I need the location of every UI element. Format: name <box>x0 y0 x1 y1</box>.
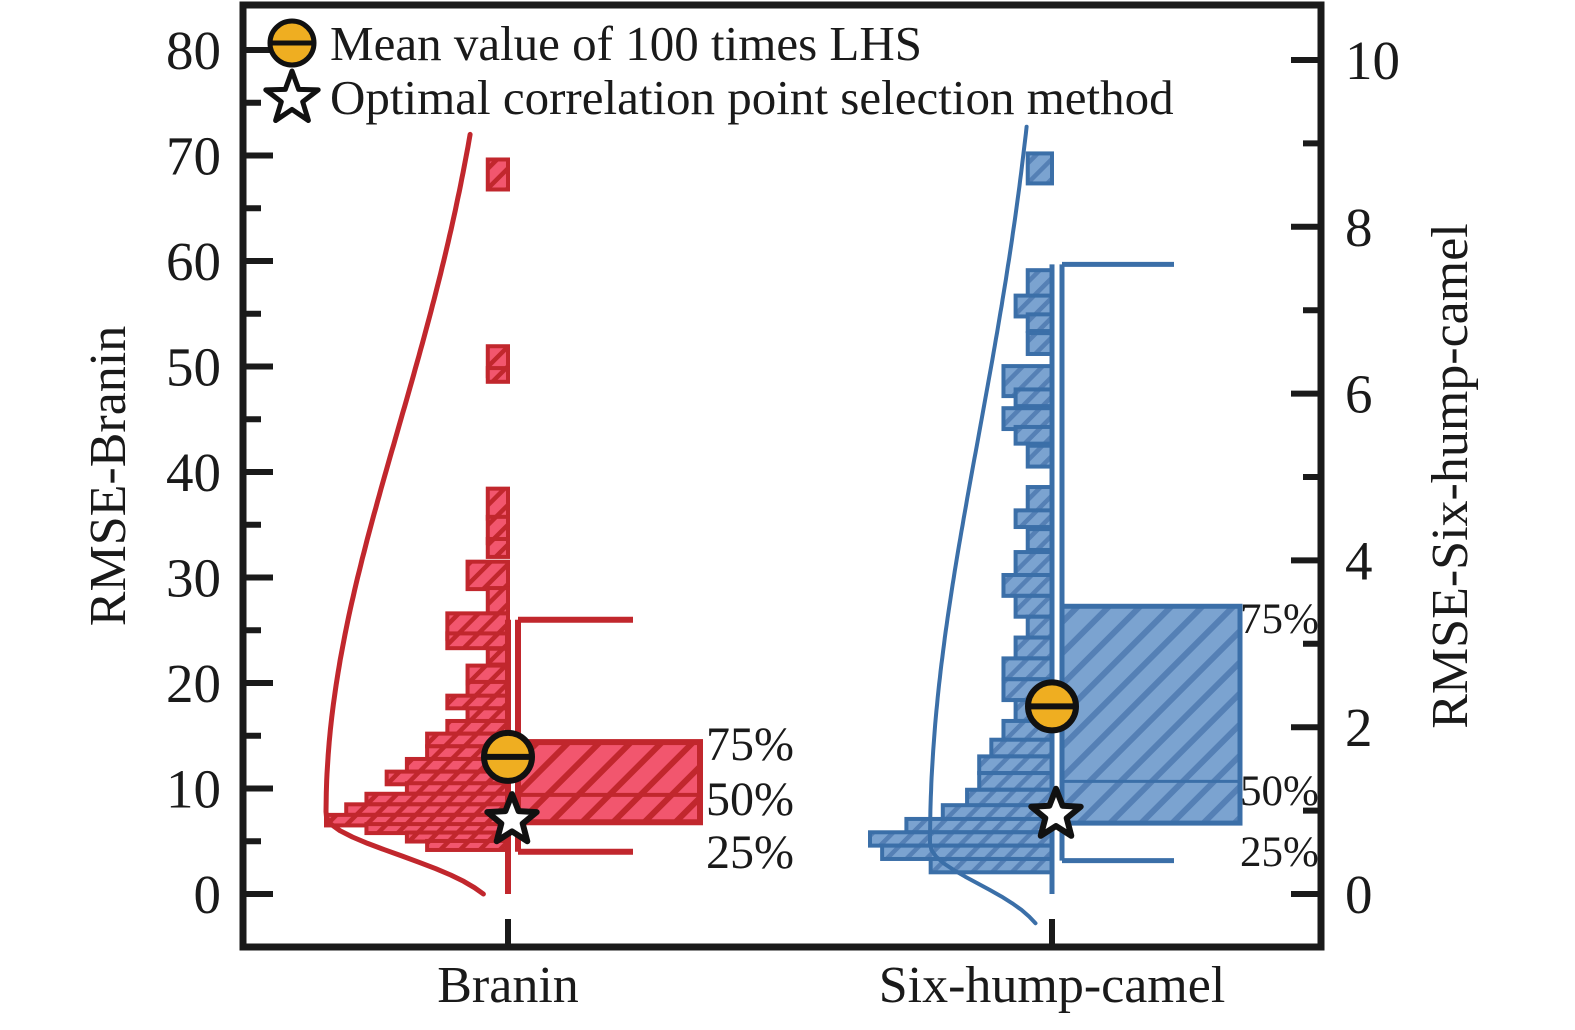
histogram-bar <box>1016 427 1052 444</box>
category-label-branin: Branin <box>437 957 579 1014</box>
right-tick-label: 10 <box>1345 30 1400 91</box>
histogram-bar <box>468 562 508 589</box>
category-label-six-hump-camel: Six-hump-camel <box>879 957 1226 1014</box>
histogram-bar <box>488 489 508 519</box>
left-tick-label: 10 <box>166 759 221 820</box>
legend-label-mean: Mean value of 100 times LHS <box>330 16 922 71</box>
histogram-bar <box>1016 389 1052 406</box>
histogram-bar <box>488 368 508 382</box>
histogram-bar <box>447 633 508 648</box>
left-tick-label: 40 <box>166 442 221 503</box>
legend-label-optimal: Optimal correlation point selection meth… <box>330 70 1174 125</box>
left-tick-label: 50 <box>166 337 221 398</box>
left-tick-label: 70 <box>166 126 221 187</box>
histogram-bar <box>1028 617 1052 638</box>
right-tick-label: 0 <box>1345 864 1373 925</box>
right-tick-label: 6 <box>1345 364 1373 425</box>
histogram-bar <box>1028 529 1052 550</box>
quartile-label-camel-75: 75% <box>1240 596 1319 643</box>
histogram-bar <box>1016 596 1052 617</box>
right-tick-label: 2 <box>1345 697 1373 758</box>
left-tick-label: 0 <box>194 864 222 925</box>
left-tick-label: 30 <box>166 548 221 609</box>
histogram-bar <box>1028 446 1052 467</box>
left-tick-label: 20 <box>166 653 221 714</box>
quartile-label-branin-25: 25% <box>706 826 794 879</box>
left-axis-title: RMSE-Branin <box>80 326 137 626</box>
quartile-label-camel-25: 25% <box>1240 829 1319 876</box>
legend-item-optimal[interactable]: Optimal correlation point selection meth… <box>266 70 1174 125</box>
histogram-bar <box>1028 153 1052 183</box>
quartile-label-camel-50: 50% <box>1240 768 1319 815</box>
histogram-bar <box>1016 638 1052 659</box>
box-iqr <box>518 742 700 822</box>
histogram-bar <box>870 832 1052 845</box>
mean-marker-branin <box>484 733 532 781</box>
histogram-bar <box>1003 575 1052 596</box>
left-tick-label: 60 <box>166 231 221 292</box>
left-axis-tick-labels: 01020304050607080 <box>166 20 221 925</box>
left-tick-label: 80 <box>166 20 221 81</box>
histogram-bar <box>979 756 1052 773</box>
mean-marker-six-hump-camel <box>1028 682 1076 730</box>
histogram-bar <box>1028 314 1052 331</box>
right-tick-label: 4 <box>1345 530 1373 591</box>
histogram-bar <box>488 588 508 613</box>
legend-item-mean[interactable]: Mean value of 100 times LHS <box>270 16 922 71</box>
histogram-bar <box>488 539 508 557</box>
mean-circle-icon <box>270 21 314 65</box>
right-tick-label: 8 <box>1345 197 1373 258</box>
histogram-bar <box>882 846 1052 859</box>
histogram-bar <box>1028 333 1052 354</box>
histogram-bar <box>488 649 508 665</box>
right-axis-title: RMSE-Six-hump-camel <box>1422 223 1479 729</box>
violin-box-chart: 01020304050607080 0246810 RMSE-Branin RM… <box>0 0 1575 1030</box>
histogram-bar <box>991 740 1052 757</box>
histogram-bar <box>979 773 1052 790</box>
histogram-bar <box>1003 658 1052 679</box>
quartile-label-branin-75: 75% <box>706 718 794 771</box>
figure-root: 01020304050607080 0246810 RMSE-Branin RM… <box>0 0 1575 1030</box>
box-iqr <box>1062 606 1240 823</box>
histogram-bar <box>488 159 508 189</box>
quartile-label-branin-50: 50% <box>706 773 794 826</box>
histogram-bar <box>1016 510 1052 527</box>
